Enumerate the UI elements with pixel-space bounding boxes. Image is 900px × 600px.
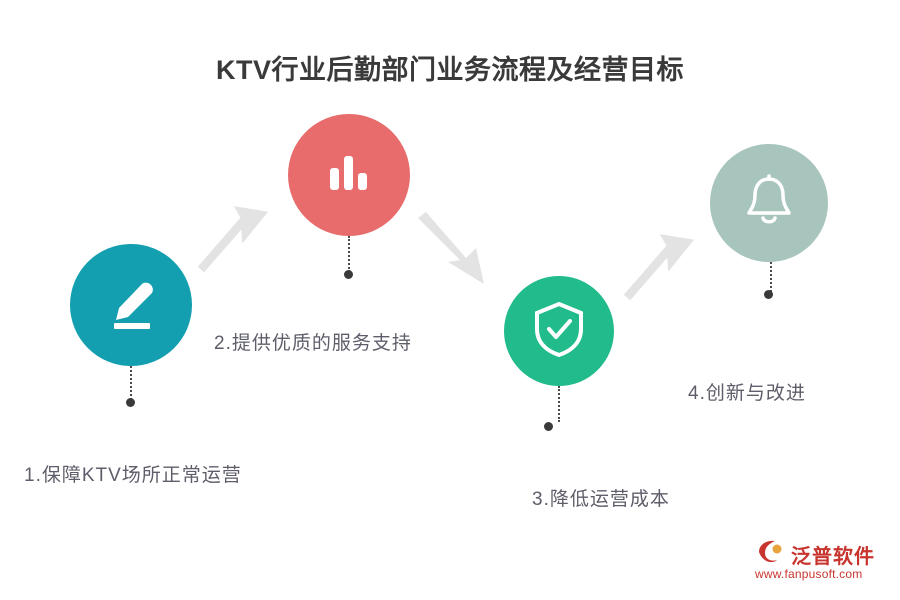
step-4-connector xyxy=(770,262,772,292)
step-3-label: 3.降低运营成本 xyxy=(532,484,670,511)
logo-url-text: www.fanpusoft.com xyxy=(755,567,862,581)
arrow-2 xyxy=(414,212,498,295)
step-1-dot xyxy=(126,398,135,407)
step-4-label: 4.创新与改进 xyxy=(688,378,806,405)
step-1-label: 1.保障KTV场所正常运营 xyxy=(24,460,242,487)
step-1-circle[interactable] xyxy=(70,244,192,366)
step-2-circle[interactable] xyxy=(288,114,410,236)
shield-check-icon xyxy=(531,300,587,363)
arrow-3 xyxy=(622,232,702,309)
step-4-circle[interactable] xyxy=(710,144,828,262)
step-4-dot xyxy=(764,290,773,299)
step-3-circle[interactable] xyxy=(504,276,614,386)
step-2-dot xyxy=(344,270,353,279)
brand-watermark: 泛普软件 www.fanpusoft.com xyxy=(755,540,890,588)
logo-brand-text: 泛普软件 xyxy=(791,540,875,569)
step-3-dot xyxy=(544,422,553,431)
pencil-underline-icon xyxy=(102,274,160,337)
diagram-canvas: KTV行业后勤部门业务流程及经营目标 1.保障KTV场所正常运营 xyxy=(0,0,900,600)
step-2-label: 2.提供优质的服务支持 xyxy=(214,328,412,355)
step-3-connector xyxy=(558,386,560,422)
arrow-1 xyxy=(196,204,276,281)
bar-chart-icon xyxy=(322,146,376,205)
step-1-connector xyxy=(130,366,132,400)
bell-icon xyxy=(742,173,796,234)
page-title: KTV行业后勤部门业务流程及经营目标 xyxy=(0,48,900,87)
step-2-connector xyxy=(348,236,350,272)
